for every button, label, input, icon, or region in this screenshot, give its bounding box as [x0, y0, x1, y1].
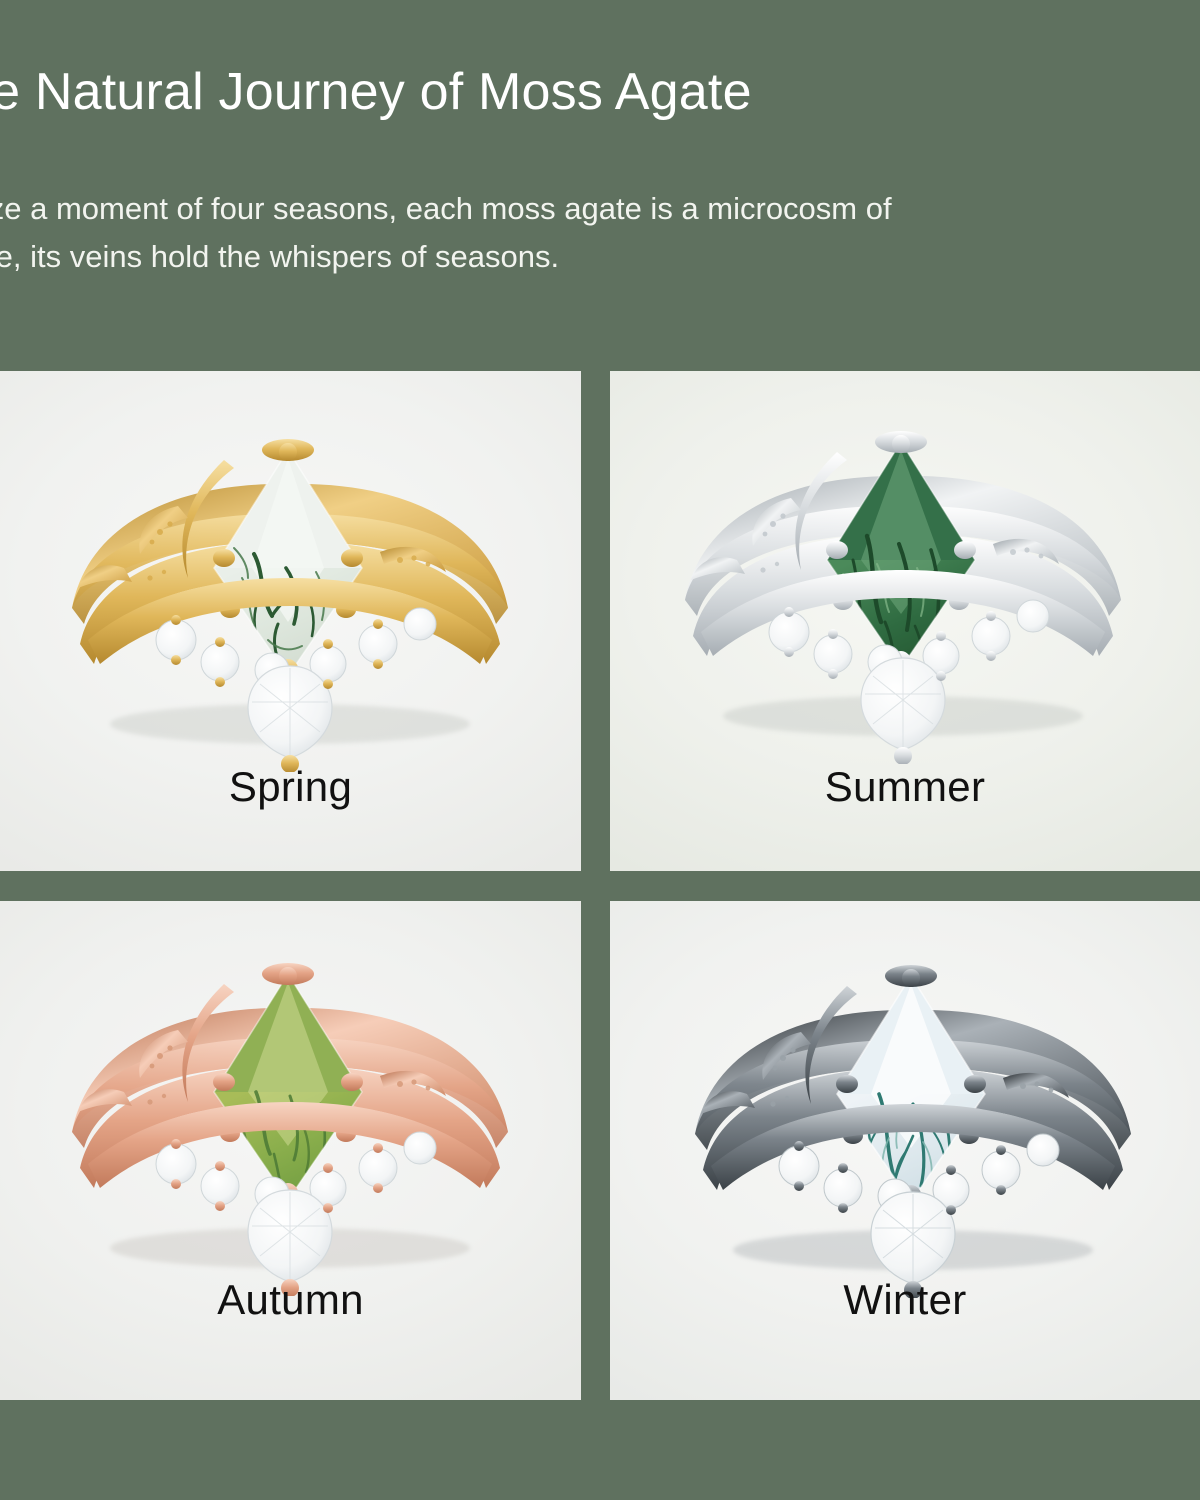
page-subtitle-line-2: nature, its veins hold the whispers of s… [0, 233, 1200, 281]
ring-photo-autumn [0, 911, 578, 1280]
ring-photo-summer [610, 379, 1196, 749]
season-card-spring[interactable]: Spring [0, 371, 581, 871]
ring-photo-spring [0, 387, 578, 757]
page-subtitle: Freeze a moment of four seasons, each mo… [0, 185, 1200, 281]
season-card-autumn[interactable]: Autumn [0, 901, 581, 1400]
season-label-winter: Winter [610, 1276, 1200, 1324]
ring-illustration-summer [641, 371, 1161, 764]
season-card-winter[interactable]: Winter [610, 901, 1200, 1400]
season-label-autumn: Autumn [0, 1276, 581, 1324]
page-header: The Natural Journey of Moss Agate Freeze… [0, 0, 1200, 371]
ring-illustration-autumn [28, 901, 548, 1296]
ring-photo-winter [616, 913, 1200, 1282]
season-label-spring: Spring [0, 763, 581, 811]
page-title: The Natural Journey of Moss Agate [0, 66, 1200, 118]
season-card-summer[interactable]: Summer [610, 371, 1200, 871]
season-gallery-grid: Spring [0, 371, 1200, 1400]
ring-illustration-spring [28, 372, 548, 772]
ring-illustration-winter [651, 901, 1171, 1298]
page-subtitle-line-1: Freeze a moment of four seasons, each mo… [0, 185, 1200, 233]
season-label-summer: Summer [610, 763, 1200, 811]
